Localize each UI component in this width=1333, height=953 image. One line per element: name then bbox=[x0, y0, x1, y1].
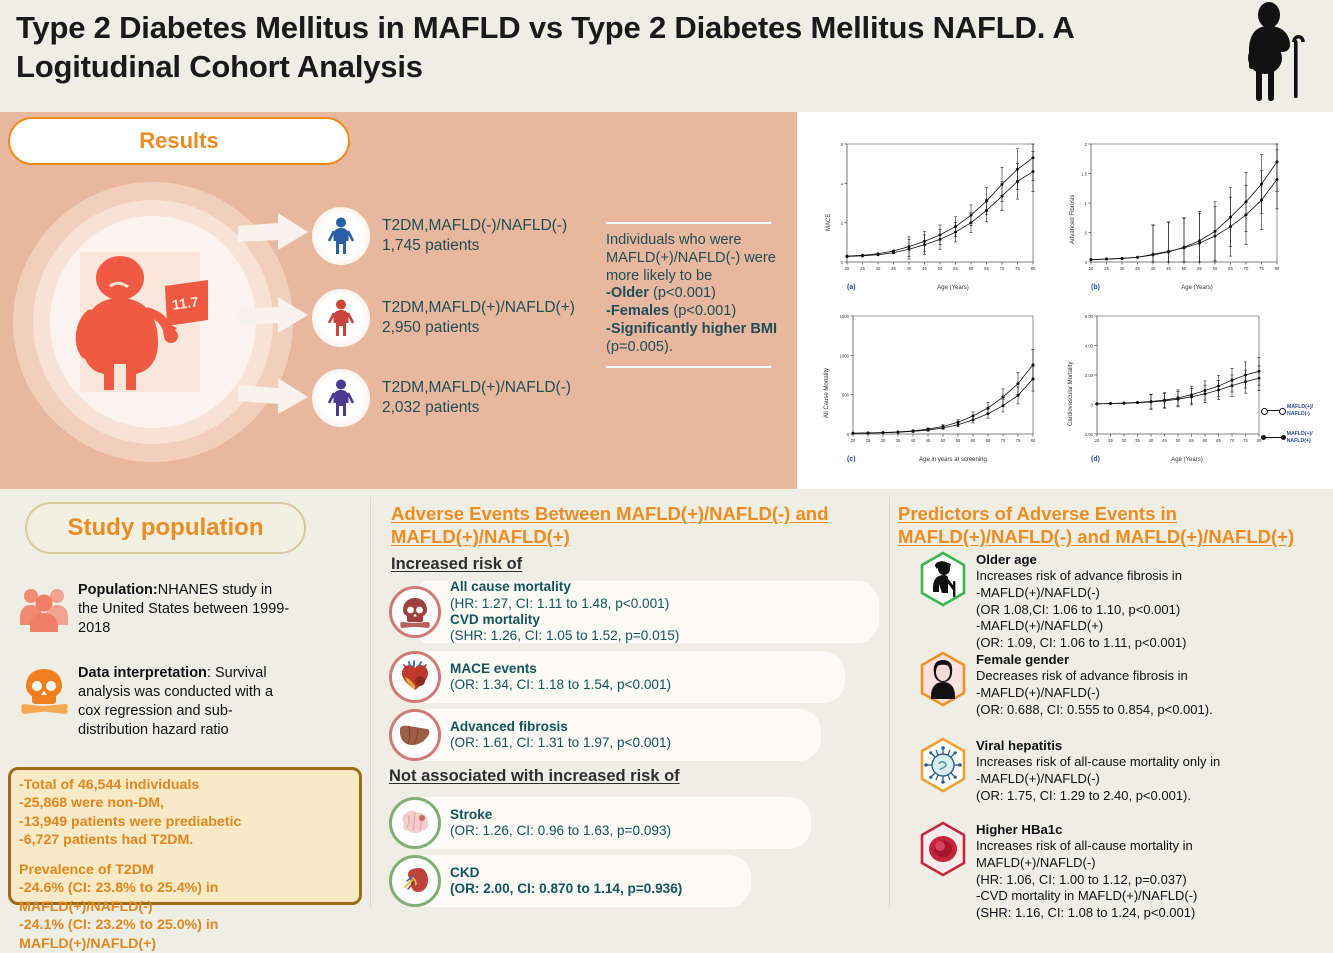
stat-line: -Total of 46,544 individuals bbox=[19, 776, 351, 794]
svg-text:35: 35 bbox=[1135, 438, 1140, 443]
legend-label-open: MAFLD(+)/ NAFLD(-) bbox=[1287, 404, 1331, 417]
predictor-female-gender: Female gender Decreases risk of advance … bbox=[918, 651, 1316, 718]
note-item-rest: (p<0.001) bbox=[669, 303, 736, 319]
event-stat: (HR: 1.27, CI: 1.11 to 1.48, p<0.001) bbox=[450, 596, 679, 612]
rule-bottom bbox=[606, 366, 771, 368]
chart-b-xlabel: Age (Years) bbox=[1137, 285, 1257, 291]
chart-d-xlabel: Age (Years) bbox=[1127, 457, 1247, 463]
chart-d: -2.0002.004.006.002025303540455055606570… bbox=[1065, 308, 1265, 450]
svg-text:1.5: 1.5 bbox=[1081, 172, 1087, 177]
svg-text:80: 80 bbox=[1031, 438, 1036, 443]
svg-text:35: 35 bbox=[896, 438, 901, 443]
svg-text:.5: .5 bbox=[1084, 231, 1088, 236]
svg-text:40: 40 bbox=[907, 266, 912, 271]
svg-text:20: 20 bbox=[1095, 438, 1100, 443]
legend-row-filled: MAFLD(+)/ NAFLD(+) bbox=[1263, 431, 1331, 444]
svg-text:30: 30 bbox=[1122, 438, 1127, 443]
svg-text:60: 60 bbox=[971, 438, 976, 443]
bullet-population-bold: Population: bbox=[78, 582, 158, 598]
svg-text:45: 45 bbox=[926, 438, 931, 443]
note-item-rest: (p=0.005). bbox=[606, 339, 673, 355]
svg-text:50: 50 bbox=[938, 266, 943, 271]
results-badge: Results bbox=[8, 117, 350, 165]
chart-b-ylabel: Advanced Fibrosis bbox=[1070, 195, 1076, 244]
svg-text:50: 50 bbox=[1176, 438, 1181, 443]
bullet-population-text: Population:NHANES study in the United St… bbox=[78, 581, 290, 638]
group-count: 2,950 patients bbox=[382, 318, 575, 338]
event-name: All cause mortality bbox=[450, 579, 679, 595]
svg-text:45: 45 bbox=[1166, 266, 1171, 271]
predictors-heading: Predictors of Adverse Events in MAFLD(+)… bbox=[898, 502, 1330, 548]
svg-text:75: 75 bbox=[1015, 266, 1020, 271]
svg-text:55: 55 bbox=[953, 266, 958, 271]
predictor-body: Increases risk of all-cause mortality on… bbox=[976, 754, 1316, 804]
person-icon-purple bbox=[312, 369, 370, 427]
study-population-column: Study population Population:NHANES study… bbox=[0, 489, 370, 915]
predictor-name: Viral hepatitis bbox=[976, 737, 1316, 754]
event-name: MACE events bbox=[450, 661, 671, 677]
svg-text:500: 500 bbox=[842, 393, 850, 398]
person-icon-blue bbox=[312, 207, 370, 265]
chart-a-svg: 024620253035404550556065707580 bbox=[821, 136, 1039, 278]
event-stat: (OR: 1.61, CI: 1.31 to 1.97, p<0.001) bbox=[450, 735, 671, 751]
predictor-name: Older age bbox=[976, 551, 1316, 568]
chart-b-panel-label: (b) bbox=[1091, 284, 1100, 291]
svg-text:25: 25 bbox=[866, 438, 871, 443]
svg-text:0: 0 bbox=[847, 432, 850, 437]
bullet-data-interpretation-text: Data interpretation: Survival analysis w… bbox=[78, 664, 290, 740]
svg-text:25: 25 bbox=[1108, 438, 1113, 443]
chart-a-panel-label: (a) bbox=[847, 284, 856, 291]
result-group-row: T2DM,MAFLD(-)/NAFLD(-) 1,745 patients bbox=[312, 207, 567, 265]
svg-text:2: 2 bbox=[841, 221, 844, 226]
predictor-text: Older age Increases risk of advance fibr… bbox=[976, 551, 1316, 652]
svg-text:65: 65 bbox=[986, 438, 991, 443]
svg-text:30: 30 bbox=[1120, 266, 1125, 271]
person-icon-red bbox=[312, 289, 370, 347]
legend-marker-filled-right bbox=[1281, 435, 1286, 440]
svg-text:30: 30 bbox=[876, 266, 881, 271]
svg-text:60: 60 bbox=[1203, 438, 1208, 443]
svg-text:20: 20 bbox=[851, 438, 856, 443]
svg-text:0: 0 bbox=[1091, 403, 1094, 408]
svg-text:70: 70 bbox=[1000, 266, 1005, 271]
svg-text:6.00: 6.00 bbox=[1085, 314, 1094, 319]
note-item-bold: -Older bbox=[606, 285, 649, 301]
svg-text:2: 2 bbox=[1085, 142, 1088, 147]
arrow-icon-1 bbox=[238, 212, 312, 252]
brain-icon bbox=[389, 797, 441, 849]
skull-crossbones-icon bbox=[389, 586, 441, 638]
svg-text:50: 50 bbox=[941, 438, 946, 443]
chart-d-panel-label: (d) bbox=[1091, 456, 1100, 463]
svg-text:25: 25 bbox=[1104, 266, 1109, 271]
svg-text:60: 60 bbox=[969, 266, 974, 271]
stat-line: -25,868 were non-DM, bbox=[19, 794, 351, 812]
note-item: -Females (p<0.001) bbox=[606, 303, 778, 321]
group-label: T2DM,MAFLD(-)/NAFLD(-) bbox=[382, 216, 567, 236]
predictor-text: Higher HBa1c Increases risk of all-cause… bbox=[976, 821, 1316, 922]
chart-c-ylabel: All Cause Mortality bbox=[824, 368, 830, 418]
svg-text:70: 70 bbox=[1244, 266, 1249, 271]
event-all-cause-mortality: All cause mortality (HR: 1.27, CI: 1.11 … bbox=[389, 581, 879, 643]
predictor-text: Female gender Decreases risk of advance … bbox=[976, 651, 1316, 718]
svg-text:75: 75 bbox=[1259, 266, 1264, 271]
svg-text:75: 75 bbox=[1243, 438, 1248, 443]
svg-text:70: 70 bbox=[1230, 438, 1235, 443]
increased-risk-label: Increased risk of bbox=[391, 555, 522, 574]
event-advanced-fibrosis: Advanced fibrosis (OR: 1.61, CI: 1.31 to… bbox=[389, 709, 879, 761]
svg-text:4.00: 4.00 bbox=[1085, 344, 1094, 349]
chart-c-xlabel: Age in years at screening bbox=[883, 457, 1023, 463]
people-group-icon bbox=[18, 581, 70, 633]
study-population-badge: Study population bbox=[25, 502, 306, 554]
event-stroke: Stroke (OR: 1.26, CI: 0.96 to 1.63, p=0.… bbox=[389, 797, 879, 849]
results-side-note: Individuals who were MAFLD(+)/NAFLD(-) w… bbox=[606, 222, 778, 368]
older-person-icon bbox=[918, 551, 968, 607]
chart-d-ylabel: Cardiovascular Mortality bbox=[1068, 362, 1074, 426]
event-text: Stroke (OR: 1.26, CI: 0.96 to 1.63, p=0.… bbox=[450, 807, 671, 840]
chart-c-svg: 05001000150020253035404550556065707580 bbox=[821, 308, 1039, 450]
legend-label-filled: MAFLD(+)/ NAFLD(+) bbox=[1287, 431, 1331, 444]
svg-text:4: 4 bbox=[841, 181, 844, 186]
elderly-person-with-cane-icon bbox=[1235, 2, 1313, 102]
note-item: -Significantly higher BMI (p=0.005). bbox=[606, 321, 778, 357]
chart-legend: MAFLD(+)/ NAFLD(-) MAFLD(+)/ NAFLD(+) bbox=[1263, 404, 1331, 458]
event-mace: MACE events (OR: 1.34, CI: 1.18 to 1.54,… bbox=[389, 651, 879, 703]
poster-header: Type 2 Diabetes Mellitus in MAFLD vs Typ… bbox=[0, 0, 1333, 112]
svg-text:25: 25 bbox=[860, 266, 865, 271]
predictor-text: Viral hepatitis Increases risk of all-ca… bbox=[976, 737, 1316, 804]
predictor-name: Higher HBa1c bbox=[976, 821, 1316, 838]
statistics-box: -Total of 46,544 individuals -25,868 wer… bbox=[8, 767, 362, 905]
svg-text:70: 70 bbox=[1001, 438, 1006, 443]
arrow-icon-3 bbox=[238, 375, 312, 415]
predictor-body: Decreases risk of advance fibrosis in -M… bbox=[976, 668, 1316, 718]
group-count: 1,745 patients bbox=[382, 236, 567, 256]
skull-crossbones-icon bbox=[18, 664, 70, 716]
study-population-badge-label: Study population bbox=[68, 514, 264, 542]
event-text: CKD (OR: 2.00, CI: 0.870 to 1.14, p=0.93… bbox=[450, 865, 682, 898]
svg-text:20: 20 bbox=[1089, 266, 1094, 271]
stat-line: -6,727 patients had T2DM. bbox=[19, 831, 351, 849]
svg-text:55: 55 bbox=[956, 438, 961, 443]
chart-panel: 024620253035404550556065707580 (a) Age (… bbox=[797, 112, 1333, 489]
event-text: Advanced fibrosis (OR: 1.61, CI: 1.31 to… bbox=[450, 719, 671, 752]
predictor-body: Increases risk of all-cause mortality in… bbox=[976, 838, 1316, 922]
svg-text:45: 45 bbox=[922, 266, 927, 271]
adverse-events-heading: Adverse Events Between MAFLD(+)/NAFLD(-)… bbox=[391, 502, 861, 548]
svg-text:1500: 1500 bbox=[840, 314, 850, 319]
note-item-bold: -Significantly higher BMI bbox=[606, 321, 777, 337]
note-item: -Older (p<0.001) bbox=[606, 285, 778, 303]
page-title: Type 2 Diabetes Mellitus in MAFLD vs Typ… bbox=[16, 8, 1246, 87]
predictor-name: Female gender bbox=[976, 651, 1316, 668]
rule-top bbox=[606, 222, 771, 224]
note-intro: Individuals who were MAFLD(+)/NAFLD(-) w… bbox=[606, 232, 778, 285]
chart-b-svg: 0.511.5220253035404550556065707580 bbox=[1065, 136, 1283, 278]
prevalence-line: -24.1% (CI: 23.2% to 25.0%) in MAFLD(+)/… bbox=[19, 916, 351, 953]
svg-text:35: 35 bbox=[1135, 266, 1140, 271]
chart-a-xlabel: Age (Years) bbox=[893, 285, 1013, 291]
liver-icon bbox=[389, 709, 441, 761]
bullet-data-interpretation: Data interpretation: Survival analysis w… bbox=[18, 664, 290, 740]
obese-patient-with-glucose-meter-icon: 11.7 bbox=[68, 234, 238, 414]
predictor-viral-hepatitis: Viral hepatitis Increases risk of all-ca… bbox=[918, 737, 1316, 804]
results-panel: Results 11.7 bbox=[0, 112, 797, 489]
svg-text:0: 0 bbox=[1085, 260, 1088, 265]
results-badge-label: Results bbox=[139, 128, 218, 154]
blood-cell-icon bbox=[918, 821, 968, 877]
result-group-row: T2DM,MAFLD(+)/NAFLD(-) 2,032 patients bbox=[312, 369, 571, 427]
event-stat-2: (SHR: 1.26, CI: 1.05 to 1.52, p=0.015) bbox=[450, 628, 679, 644]
svg-text:40: 40 bbox=[1149, 438, 1154, 443]
group-label: T2DM,MAFLD(+)/NAFLD(+) bbox=[382, 298, 575, 318]
svg-text:80: 80 bbox=[1031, 266, 1036, 271]
predictor-body: Increases risk of advance fibrosis in -M… bbox=[976, 568, 1316, 652]
result-group-text: T2DM,MAFLD(+)/NAFLD(+) 2,950 patients bbox=[382, 298, 575, 338]
result-group-row: T2DM,MAFLD(+)/NAFLD(+) 2,950 patients bbox=[312, 289, 575, 347]
svg-text:80: 80 bbox=[1275, 266, 1280, 271]
legend-marker-filled-left bbox=[1261, 435, 1266, 440]
event-name: Advanced fibrosis bbox=[450, 719, 671, 735]
svg-text:45: 45 bbox=[1162, 438, 1167, 443]
not-associated-label: Not associated with increased risk of bbox=[389, 767, 680, 786]
event-text: MACE events (OR: 1.34, CI: 1.18 to 1.54,… bbox=[450, 661, 671, 694]
svg-text:30: 30 bbox=[881, 438, 886, 443]
stat-line: -13,949 patients were prediabetic bbox=[19, 813, 351, 831]
result-group-text: T2DM,MAFLD(-)/NAFLD(-) 1,745 patients bbox=[382, 216, 567, 256]
event-name: Stroke bbox=[450, 807, 671, 823]
event-stat: (OR: 2.00, CI: 0.870 to 1.14, p=0.936) bbox=[450, 881, 682, 897]
chart-c-panel-label: (c) bbox=[847, 456, 856, 463]
svg-text:65: 65 bbox=[1216, 438, 1221, 443]
chart-a-ylabel: MACE bbox=[826, 214, 832, 231]
svg-text:65: 65 bbox=[984, 266, 989, 271]
chart-a: 024620253035404550556065707580 (a) Age (… bbox=[821, 136, 1039, 278]
predictor-higher-hba1c: Higher HBa1c Increases risk of all-cause… bbox=[918, 821, 1316, 922]
spacer bbox=[19, 850, 351, 861]
svg-text:40: 40 bbox=[911, 438, 916, 443]
bottom-section: Study population Population:NHANES study… bbox=[0, 489, 1333, 915]
group-count: 2,032 patients bbox=[382, 398, 571, 418]
predictors-column: Predictors of Adverse Events in MAFLD(+)… bbox=[890, 489, 1333, 915]
heart-icon bbox=[389, 651, 441, 703]
adverse-events-column: Adverse Events Between MAFLD(+)/NAFLD(-)… bbox=[371, 489, 889, 915]
chart-c: 05001000150020253035404550556065707580 (… bbox=[821, 308, 1039, 450]
note-item-bold: -Females bbox=[606, 303, 669, 319]
legend-line-filled bbox=[1263, 437, 1284, 438]
event-stat: (OR: 1.26, CI: 0.96 to 1.63, p=0.093) bbox=[450, 823, 671, 839]
event-text: All cause mortality (HR: 1.27, CI: 1.11 … bbox=[450, 579, 679, 645]
event-name: CKD bbox=[450, 865, 682, 881]
svg-text:0: 0 bbox=[841, 260, 844, 265]
female-person-icon bbox=[918, 651, 968, 707]
result-group-text: T2DM,MAFLD(+)/NAFLD(-) 2,032 patients bbox=[382, 378, 571, 418]
event-ckd: CKD (OR: 2.00, CI: 0.870 to 1.14, p=0.93… bbox=[389, 855, 879, 907]
legend-marker-open-right bbox=[1279, 408, 1286, 415]
svg-text:65: 65 bbox=[1228, 266, 1233, 271]
svg-text:55: 55 bbox=[1197, 266, 1202, 271]
predictor-older-age: Older age Increases risk of advance fibr… bbox=[918, 551, 1316, 652]
svg-text:75: 75 bbox=[1016, 438, 1021, 443]
svg-text:1000: 1000 bbox=[840, 353, 850, 358]
chart-d-svg: -2.0002.004.006.002025303540455055606570… bbox=[1065, 308, 1265, 450]
svg-text:35: 35 bbox=[891, 266, 896, 271]
note-item-rest: (p<0.001) bbox=[649, 285, 716, 301]
svg-text:6: 6 bbox=[841, 142, 844, 147]
svg-text:-2.00: -2.00 bbox=[1083, 432, 1093, 437]
event-name-2: CVD mortality bbox=[450, 612, 679, 628]
arrow-icon-2 bbox=[238, 295, 312, 335]
svg-text:40: 40 bbox=[1151, 266, 1156, 271]
legend-row-open: MAFLD(+)/ NAFLD(-) bbox=[1263, 404, 1331, 417]
svg-text:2.00: 2.00 bbox=[1085, 373, 1094, 378]
group-label: T2DM,MAFLD(+)/NAFLD(-) bbox=[382, 378, 571, 398]
legend-line-open bbox=[1263, 410, 1284, 411]
svg-text:20: 20 bbox=[845, 266, 850, 271]
legend-marker-open-left bbox=[1261, 408, 1268, 415]
svg-text:1: 1 bbox=[1085, 201, 1088, 206]
prevalence-heading: Prevalence of T2DM bbox=[19, 861, 351, 879]
bullet-population: Population:NHANES study in the United St… bbox=[18, 581, 290, 638]
svg-text:50: 50 bbox=[1182, 266, 1187, 271]
virus-icon bbox=[918, 737, 968, 793]
svg-text:60: 60 bbox=[1213, 266, 1218, 271]
prevalence-line: -24.6% (CI: 23.8% to 25.4%) in MAFLD(+)/… bbox=[19, 879, 351, 916]
chart-b: 0.511.5220253035404550556065707580 (b) A… bbox=[1065, 136, 1283, 278]
event-stat: (OR: 1.34, CI: 1.18 to 1.54, p<0.001) bbox=[450, 677, 671, 693]
svg-text:55: 55 bbox=[1189, 438, 1194, 443]
bullet-di-bold: Data interpretation bbox=[78, 665, 207, 681]
kidney-icon bbox=[389, 855, 441, 907]
